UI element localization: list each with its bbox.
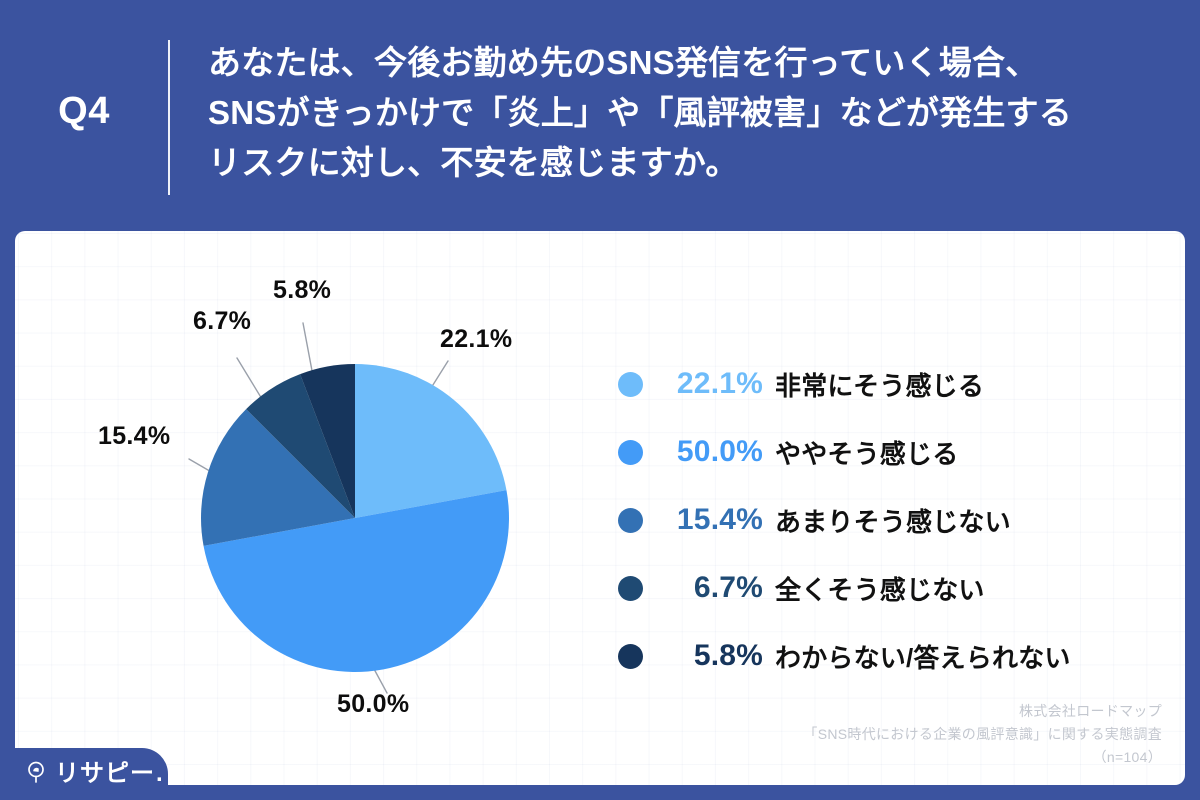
legend-label: あまりそう感じない: [775, 502, 1011, 539]
legend-item-3[interactable]: 6.7% 全くそう感じない: [618, 554, 1158, 622]
chart-card: 22.1% 50.0% 15.4% 6.7% 5.8% 22.1% 非常にそう感…: [15, 231, 1185, 785]
legend-swatch-icon: [618, 508, 643, 533]
header-divider: [168, 40, 170, 195]
pie-label-15-4: 15.4%: [98, 422, 170, 451]
legend-item-1[interactable]: 50.0% ややそう感じる: [618, 418, 1158, 486]
legend-swatch-icon: [618, 372, 643, 397]
legend-swatch-icon: [618, 576, 643, 601]
pie-chart: [200, 363, 510, 673]
legend-item-4[interactable]: 5.8% わからない/答えられない: [618, 622, 1158, 690]
legend-percent: 5.8%: [643, 639, 775, 673]
brand-logo-dot: .: [156, 760, 163, 788]
legend-item-0[interactable]: 22.1% 非常にそう感じる: [618, 350, 1158, 418]
question-line-2: SNSがきっかけで「炎上」や「風評被害」などが発生する: [208, 88, 1168, 138]
legend-percent: 50.0%: [643, 435, 775, 469]
legend-label: 非常にそう感じる: [775, 366, 984, 403]
question-header: Q4 あなたは、今後お勤め先のSNS発信を行っていく場合、 SNSがきっかけで「…: [0, 0, 1200, 231]
legend-label: ややそう感じる: [775, 434, 958, 471]
pie-label-5-8: 5.8%: [273, 276, 331, 305]
credits-survey-title: 「SNS時代における企業の風評意識」に関する実態調査: [803, 723, 1162, 746]
credits-sample-size: （n=104）: [803, 746, 1162, 769]
legend-item-2[interactable]: 15.4% あまりそう感じない: [618, 486, 1158, 554]
legend-percent: 15.4%: [643, 503, 775, 537]
pie-chart-svg: [200, 363, 510, 673]
pie-label-22-1: 22.1%: [440, 325, 512, 354]
search-pin-icon: [24, 760, 48, 789]
chart-legend: 22.1% 非常にそう感じる 50.0% ややそう感じる 15.4% あまりそう…: [618, 350, 1158, 690]
question-text: あなたは、今後お勤め先のSNS発信を行っていく場合、 SNSがきっかけで「炎上」…: [208, 38, 1168, 188]
pie-label-6-7: 6.7%: [193, 307, 251, 336]
legend-percent: 6.7%: [643, 571, 775, 605]
credits-block: 株式会社ロードマップ 「SNS時代における企業の風評意識」に関する実態調査 （n…: [803, 700, 1162, 769]
question-line-1: あなたは、今後お勤め先のSNS発信を行っていく場合、: [208, 38, 1168, 88]
question-line-3: リスクに対し、不安を感じますか。: [208, 138, 1168, 188]
legend-percent: 22.1%: [643, 367, 775, 401]
brand-logo[interactable]: リサピー .: [0, 748, 168, 800]
brand-logo-text: リサピー: [55, 762, 155, 786]
question-number: Q4: [0, 92, 168, 130]
legend-label: 全くそう感じない: [775, 570, 985, 607]
legend-swatch-icon: [618, 440, 643, 465]
pie-slices: [201, 364, 509, 672]
legend-swatch-icon: [618, 644, 643, 669]
credits-company: 株式会社ロードマップ: [803, 700, 1162, 723]
pie-label-50-0: 50.0%: [337, 690, 409, 719]
legend-label: わからない/答えられない: [775, 638, 1071, 675]
